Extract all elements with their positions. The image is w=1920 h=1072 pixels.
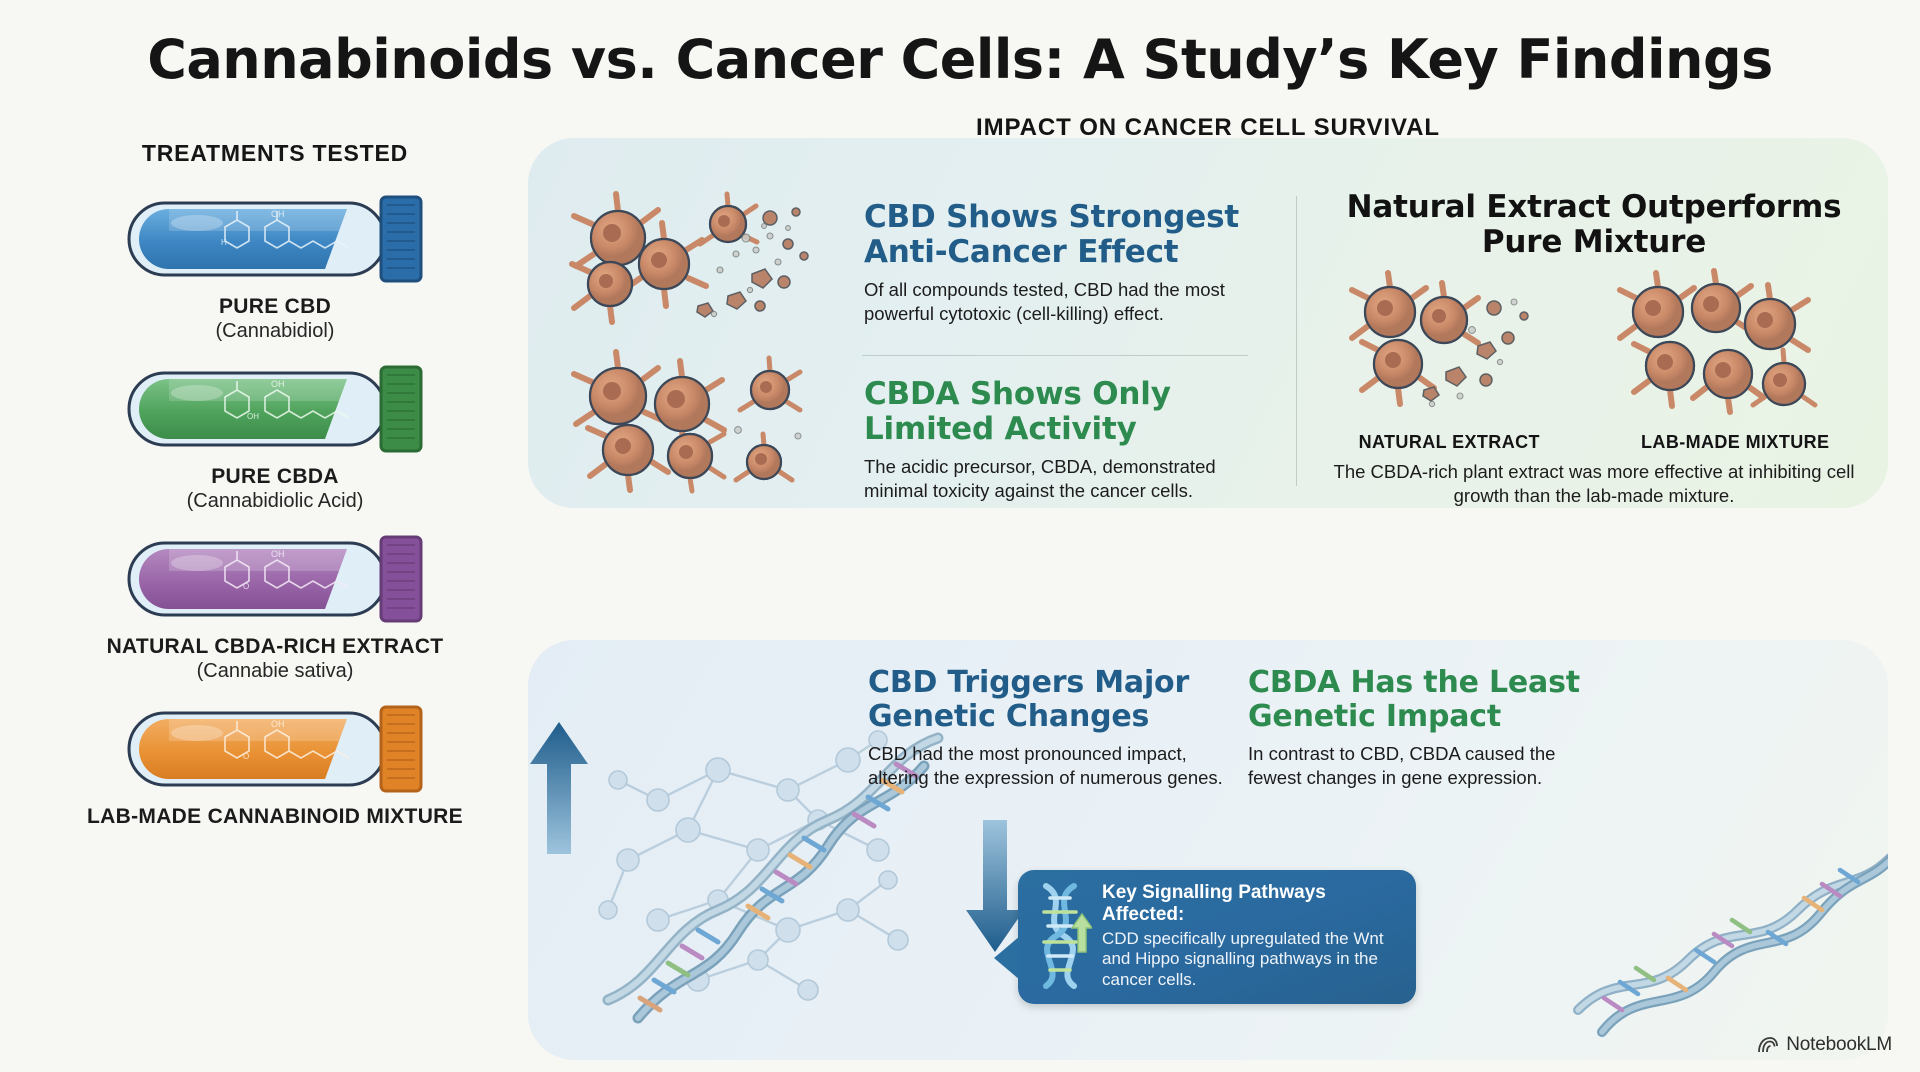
comparison-title-block: Natural Extract Outperforms Pure Mixture <box>1308 190 1880 268</box>
cancer-cells-dispersing-illustration <box>538 178 858 338</box>
treatment-subtitle: (Cannabie sativa) <box>40 659 510 683</box>
page-title: Cannabinoids vs. Cancer Cells: A Study’s… <box>0 28 1920 91</box>
treatment-item: OH H PURE CBD (Cannabidiol) <box>40 191 510 343</box>
dna-helix-icon <box>1030 882 1092 990</box>
notebooklm-watermark: NotebookLM <box>1757 1034 1892 1056</box>
finding-body: In contrast to CBD, CBDA caused the fewe… <box>1248 742 1608 790</box>
test-tube-icon: OH H <box>40 191 510 287</box>
svg-text:OH: OH <box>271 379 285 389</box>
finding-cbda-gene: CBDA Has the Least Genetic Impact In con… <box>1248 666 1608 790</box>
svg-text:OH: OH <box>271 549 285 559</box>
comparison-labels: NATURAL EXTRACT LAB-MADE MIXTURE <box>1308 432 1880 453</box>
svg-text:OH: OH <box>271 209 285 219</box>
treatment-name: LAB-MADE CANNABINOID MIXTURE <box>40 805 510 829</box>
treatment-name: PURE CBDA <box>40 465 510 489</box>
survival-panel: CBD Shows Strongest Anti-Cancer Effect O… <box>528 138 1888 508</box>
comparison-caption: The CBDA-rich plant extract was more eff… <box>1308 460 1880 508</box>
treatment-subtitle: (Cannabidiolic Acid) <box>40 489 510 513</box>
test-tube-icon: OH OH <box>40 361 510 457</box>
treatments-column: TREATMENTS TESTED <box>40 140 510 848</box>
treatment-item: OH O LAB-MADE CANNABINOID MIXTURE <box>40 701 510 829</box>
test-tube-icon: OH O <box>40 531 510 627</box>
infographic-canvas: Cannabinoids vs. Cancer Cells: A Study’s… <box>0 0 1920 1072</box>
key-pathways-callout: Key Signalling Pathways Affected: CDD sp… <box>1018 870 1416 1004</box>
survival-left-group: CBD Shows Strongest Anti-Cancer Effect O… <box>528 172 1288 508</box>
treatment-name: NATURAL CBDA-RICH EXTRACT <box>40 635 510 659</box>
test-tube-icon: OH O <box>40 701 510 797</box>
svg-text:OH: OH <box>271 719 285 729</box>
finding-title: CBD Triggers Major Genetic Changes <box>868 666 1228 733</box>
callout-title: Key Signalling Pathways Affected: <box>1102 882 1402 926</box>
cancer-cells-intact-illustration <box>542 344 862 494</box>
treatment-item: OH O NATURAL CBDA-RICH EXTRACT (Cannabie… <box>40 531 510 683</box>
callout-pointer-icon <box>994 936 1020 980</box>
treatment-item: OH OH PURE CBDA (Cannabidiolic Acid) <box>40 361 510 513</box>
svg-text:H: H <box>221 238 227 247</box>
divider-vertical <box>1296 196 1297 486</box>
notebooklm-logo-icon <box>1757 1035 1779 1055</box>
svg-text:OH: OH <box>247 412 259 421</box>
finding-title: CBDA Shows Only Limited Activity <box>864 377 1256 446</box>
divider-horizontal <box>862 355 1248 356</box>
treatments-heading: TREATMENTS TESTED <box>40 140 510 167</box>
finding-title: CBDA Has the Least Genetic Impact <box>1248 666 1608 733</box>
natural-extract-cells-illustration <box>1328 268 1578 428</box>
comparison-title: Natural Extract Outperforms Pure Mixture <box>1308 190 1880 259</box>
arrow-up-icon <box>528 718 594 858</box>
finding-body: Of all compounds tested, CBD had the mos… <box>864 278 1256 326</box>
gene-panel: CBD Triggers Major Genetic Changes CBD h… <box>528 640 1888 1060</box>
lab-made-mixture-cells-illustration <box>1600 268 1850 428</box>
finding-cbd-gene: CBD Triggers Major Genetic Changes CBD h… <box>868 666 1228 790</box>
finding-body: The acidic precursor, CBDA, demonstrated… <box>864 455 1256 503</box>
comparison-label-labmade: LAB-MADE MIXTURE <box>1641 432 1829 453</box>
treatment-name: PURE CBD <box>40 295 510 319</box>
callout-body: CDD specifically upregulated the Wnt and… <box>1102 929 1402 991</box>
dna-helix-illustration <box>1568 820 1888 1040</box>
finding-body: CBD had the most pronounced impact, alte… <box>868 742 1228 790</box>
finding-cbd-cytotoxic: CBD Shows Strongest Anti-Cancer Effect O… <box>864 200 1256 327</box>
comparison-label-natural: NATURAL EXTRACT <box>1359 432 1540 453</box>
notebooklm-label: NotebookLM <box>1786 1034 1892 1056</box>
treatment-subtitle: (Cannabidiol) <box>40 319 510 343</box>
finding-title: CBD Shows Strongest Anti-Cancer Effect <box>864 200 1256 269</box>
svg-text:O: O <box>243 582 249 591</box>
svg-text:O: O <box>243 752 249 761</box>
survival-comparison-group: Natural Extract Outperforms Pure Mixture <box>1300 172 1888 508</box>
finding-cbda-limited: CBDA Shows Only Limited Activity The aci… <box>864 377 1256 504</box>
